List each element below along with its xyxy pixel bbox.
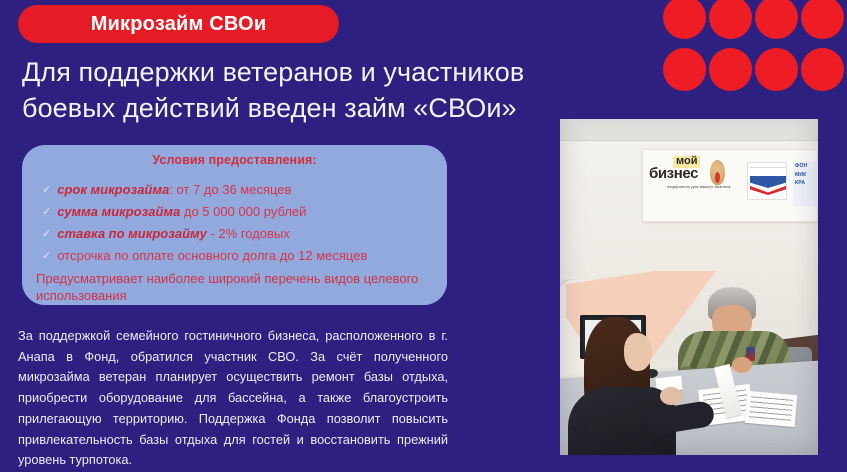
list-item: ✓ отсрочка по оплате основного долга до … — [42, 249, 433, 264]
conditions-title: Условия предоставления: — [36, 153, 433, 167]
red-dot-icon — [709, 48, 752, 91]
dot-cell — [662, 46, 708, 98]
slide-canvas: Микрозайм СВОи Для поддержки ветеранов и… — [0, 0, 847, 472]
dot-cell — [662, 0, 708, 46]
conditions-list: ✓ срок микрозайма: от 7 до 36 месяцев ✓ … — [36, 183, 433, 264]
red-dot-icon — [801, 0, 844, 39]
red-dot-icon — [755, 0, 798, 39]
conditions-note: Предусматривает наиболее широкий перечен… — [36, 271, 433, 305]
red-dot-icon — [663, 48, 706, 91]
page-title: Для поддержки ветеранов и участников бое… — [22, 55, 597, 126]
conditions-item-emphasis: сумма микрозайма — [57, 204, 180, 219]
red-dot-icon — [755, 48, 798, 91]
dot-cell — [708, 0, 754, 46]
check-icon: ✓ — [42, 227, 51, 242]
conditions-item-text: отсрочка по оплате основного долга до 12… — [57, 249, 367, 264]
photo-frame: мой бизнес нацпроекты для вашего бизнеса… — [560, 119, 818, 455]
conditions-item-rest: : от 7 до 36 месяцев — [169, 182, 291, 197]
list-item: ✓ сумма микрозайма до 5 000 000 рублей — [42, 205, 433, 220]
conditions-item-emphasis: срок микрозайма — [57, 182, 169, 197]
dot-cell — [754, 46, 800, 98]
conditions-item-emphasis: ставка по микрозайму — [57, 226, 207, 241]
office-meeting-photo: мой бизнес нацпроекты для вашего бизнеса… — [560, 119, 818, 455]
photo-vignette — [560, 119, 818, 455]
conditions-item-rest: отсрочка по оплате основного долга до 12… — [57, 248, 367, 263]
program-badge: Микрозайм СВОи — [18, 5, 339, 43]
dot-cell — [800, 46, 846, 98]
decorative-dot-grid — [662, 0, 847, 98]
red-dot-icon — [801, 48, 844, 91]
conditions-item-rest: до 5 000 000 рублей — [180, 204, 306, 219]
red-dot-icon — [663, 0, 706, 39]
check-icon: ✓ — [42, 249, 51, 264]
body-paragraph: За поддержкой семейного гостиничного биз… — [18, 326, 448, 471]
list-item: ✓ ставка по микрозайму - 2% годовых — [42, 227, 433, 242]
program-badge-label: Микрозайм СВОи — [91, 13, 267, 36]
conditions-item-rest: - 2% годовых — [207, 226, 290, 241]
dot-cell — [800, 0, 846, 46]
list-item: ✓ срок микрозайма: от 7 до 36 месяцев — [42, 183, 433, 198]
red-dot-icon — [709, 0, 752, 39]
conditions-card: Условия предоставления: ✓ срок микрозайм… — [22, 145, 447, 305]
check-icon: ✓ — [42, 183, 51, 198]
conditions-item-text: ставка по микрозайму - 2% годовых — [57, 227, 290, 242]
dot-cell — [708, 46, 754, 98]
dot-cell — [754, 0, 800, 46]
conditions-item-text: сумма микрозайма до 5 000 000 рублей — [57, 205, 306, 220]
check-icon: ✓ — [42, 205, 51, 220]
conditions-item-text: срок микрозайма: от 7 до 36 месяцев — [57, 183, 291, 198]
